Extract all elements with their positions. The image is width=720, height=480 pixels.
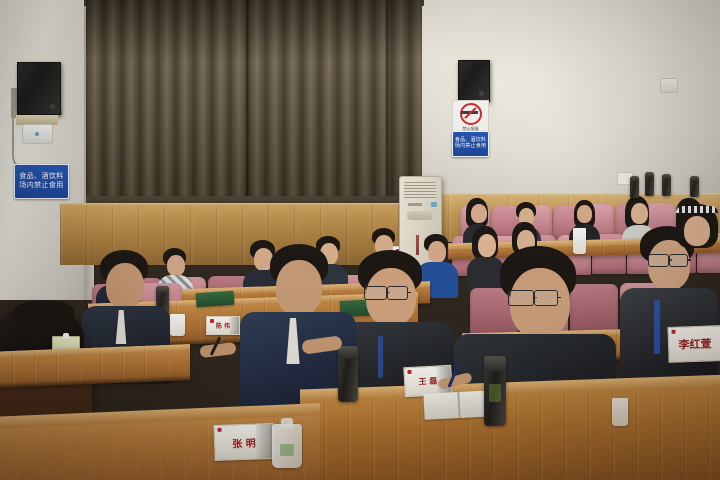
food-prohibited-sign-right: 食品、酒饮料 场内禁止食用 (452, 131, 489, 157)
document-folder[interactable] (196, 291, 235, 308)
lecture-hall-photo: 禁止吸烟 食品、酒饮料 场内禁止食用 食品、酒饮料 场内禁止食用 (0, 0, 720, 480)
eyeglasses (669, 254, 688, 267)
headband (676, 206, 718, 213)
placard-emblem (217, 428, 221, 432)
placard-emblem (671, 330, 675, 334)
paper-cup[interactable] (573, 228, 586, 254)
window-curtain (86, 0, 422, 205)
loudspeaker-right-icon (458, 60, 490, 102)
eyeglasses (387, 286, 408, 300)
face (631, 203, 648, 224)
face (577, 205, 592, 223)
curtain-shading (86, 0, 422, 205)
face (428, 241, 446, 263)
face (276, 260, 322, 316)
thermos-bottle[interactable] (645, 172, 654, 196)
face (478, 234, 496, 257)
paper-cup[interactable] (170, 314, 185, 336)
lanyard (654, 300, 660, 354)
name-placard[interactable]: 陈 伟 (206, 316, 240, 335)
placard-emblem (210, 319, 214, 323)
bottle-cap (484, 356, 506, 371)
no-smoking-sign: 禁止吸烟 (452, 100, 489, 133)
eyeglasses (534, 290, 558, 306)
face (471, 204, 487, 223)
thermos-label (489, 384, 501, 402)
eyeglasses (508, 290, 534, 306)
curtain-seam (246, 0, 249, 205)
face (684, 216, 710, 246)
tissue-pull (63, 333, 69, 338)
placard-name: 王 磊 (418, 375, 437, 387)
eyeglasses (648, 254, 669, 267)
wifi-access-point-icon (22, 124, 53, 144)
face (167, 255, 185, 276)
placard-fold (255, 424, 274, 459)
hair-highlight (14, 300, 74, 322)
hand (199, 342, 236, 358)
sign-line-2: 场内禁止食用 (455, 144, 486, 150)
thermos-mid[interactable] (338, 346, 358, 402)
eyeglasses (364, 286, 387, 300)
ac-brand-logo (408, 203, 422, 206)
sign-line-1: 食品、酒饮料 (19, 173, 63, 181)
thermos-bottle[interactable] (630, 176, 639, 198)
name-placard-front-left[interactable]: 张 明 (213, 423, 274, 461)
wall-junction-box (660, 78, 678, 93)
food-prohibited-sign-left: 食品、酒饮料 场内禁止食用 (14, 164, 69, 199)
wifi-led (35, 132, 39, 136)
ac-accent-stripe (416, 235, 419, 255)
ac-vent-grille (404, 182, 436, 199)
speaker-cone (479, 91, 484, 96)
placard-fold (229, 317, 239, 334)
face (106, 263, 144, 309)
placard-name: 李红萱 (678, 335, 712, 352)
thermos-bottle[interactable] (662, 174, 671, 196)
no-smoking-icon (460, 103, 482, 125)
speaker-cone (50, 104, 55, 109)
ac-control-panel[interactable] (407, 211, 433, 220)
bottle-cap (338, 346, 358, 358)
lanyard (378, 336, 383, 378)
bottle-cap (156, 286, 169, 293)
bottle-cap (645, 172, 654, 177)
curtain-seam (386, 0, 389, 205)
placard-emblem (407, 370, 411, 374)
loudspeaker-left-icon (17, 62, 61, 115)
placard-name: 张 明 (232, 434, 256, 450)
bottle-cap (662, 174, 671, 179)
cup-wrap-twist (281, 418, 293, 428)
ac-badge (431, 202, 437, 207)
cup-logo (280, 444, 294, 456)
bottle-cap (690, 176, 699, 181)
thermos-bottle[interactable] (690, 176, 699, 197)
name-placard-front-right[interactable]: 李红萱 (667, 325, 720, 363)
paper-cup[interactable] (612, 398, 628, 426)
sign-line-2: 场内禁止食用 (19, 182, 63, 190)
bottle-cap (630, 176, 639, 181)
placard-name: 陈 伟 (216, 321, 230, 330)
